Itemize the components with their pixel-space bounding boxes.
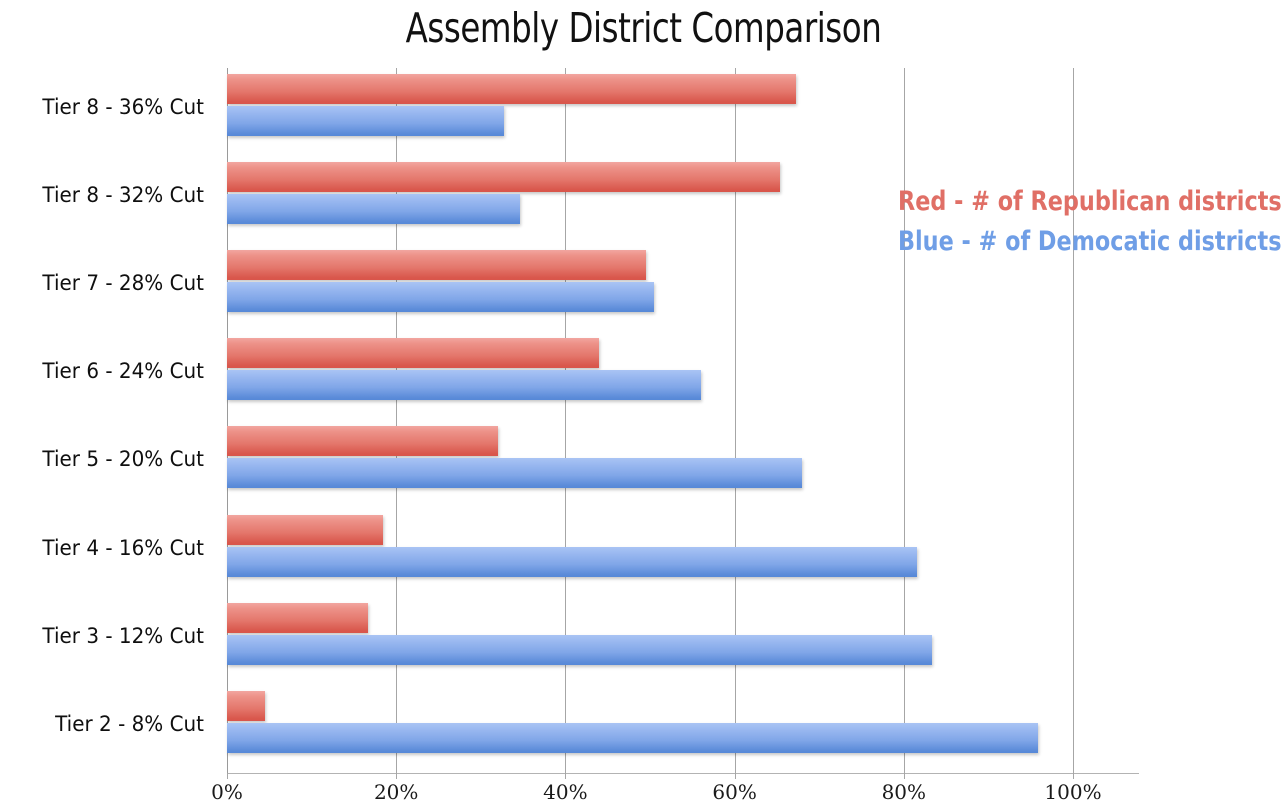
- bar-republican[interactable]: [227, 250, 646, 280]
- bar-democratic[interactable]: [227, 458, 802, 488]
- legend-entry-republican: Red - # of Republican districts: [898, 182, 1238, 222]
- bar-democratic[interactable]: [227, 194, 520, 224]
- plot-area: [227, 68, 1073, 773]
- bar-republican[interactable]: [227, 74, 796, 104]
- bar-democratic[interactable]: [227, 547, 917, 577]
- x-axis-tick: [565, 773, 566, 779]
- gridline-100pct: [1073, 68, 1074, 773]
- x-axis-line: [227, 773, 1139, 774]
- bar-democratic[interactable]: [227, 282, 654, 312]
- x-tick-label: 60%: [712, 780, 756, 804]
- category-label: Tier 7 - 28% Cut: [5, 271, 205, 295]
- x-axis-tick: [227, 773, 228, 779]
- category-label: Tier 4 - 16% Cut: [5, 536, 205, 560]
- x-tick-label: 20%: [374, 780, 418, 804]
- category-label: Tier 3 - 12% Cut: [5, 624, 205, 648]
- bar-group: [227, 332, 1073, 420]
- x-axis-tick: [735, 773, 736, 779]
- bar-republican[interactable]: [227, 515, 383, 545]
- chart-title: Assembly District Comparison: [77, 4, 1210, 52]
- bar-democratic[interactable]: [227, 635, 932, 665]
- bar-republican[interactable]: [227, 426, 498, 456]
- bar-rows: [227, 68, 1073, 773]
- category-label: Tier 5 - 20% Cut: [5, 447, 205, 471]
- bar-group: [227, 685, 1073, 773]
- category-label: Tier 2 - 8% Cut: [5, 712, 205, 736]
- chart-legend: Red - # of Republican districts Blue - #…: [898, 182, 1268, 262]
- bar-group: [227, 509, 1073, 597]
- bar-republican[interactable]: [227, 162, 780, 192]
- x-tick-label: 80%: [882, 780, 926, 804]
- x-axis-tick-labels: 0%20%40%60%80%100%: [0, 780, 1287, 808]
- bar-democratic[interactable]: [227, 370, 701, 400]
- legend-entry-democratic: Blue - # of Democatic districts: [898, 222, 1238, 262]
- bar-republican[interactable]: [227, 338, 599, 368]
- x-axis-tick: [396, 773, 397, 779]
- bar-chart: Assembly District Comparison Tier 8 - 36…: [0, 0, 1287, 808]
- category-label: Tier 8 - 32% Cut: [5, 183, 205, 207]
- bar-republican[interactable]: [227, 691, 265, 721]
- bar-group: [227, 68, 1073, 156]
- bar-democratic[interactable]: [227, 106, 504, 136]
- category-label: Tier 6 - 24% Cut: [5, 359, 205, 383]
- category-axis-labels: Tier 8 - 36% CutTier 8 - 32% CutTier 7 -…: [0, 68, 218, 773]
- x-tick-label: 100%: [1044, 780, 1101, 804]
- bar-group: [227, 420, 1073, 508]
- x-axis-tick: [904, 773, 905, 779]
- bar-democratic[interactable]: [227, 723, 1038, 753]
- bar-group: [227, 597, 1073, 685]
- bar-republican[interactable]: [227, 603, 368, 633]
- x-tick-label: 40%: [543, 780, 587, 804]
- x-axis-tick: [1073, 773, 1074, 779]
- category-label: Tier 8 - 36% Cut: [5, 95, 205, 119]
- x-tick-label: 0%: [211, 780, 243, 804]
